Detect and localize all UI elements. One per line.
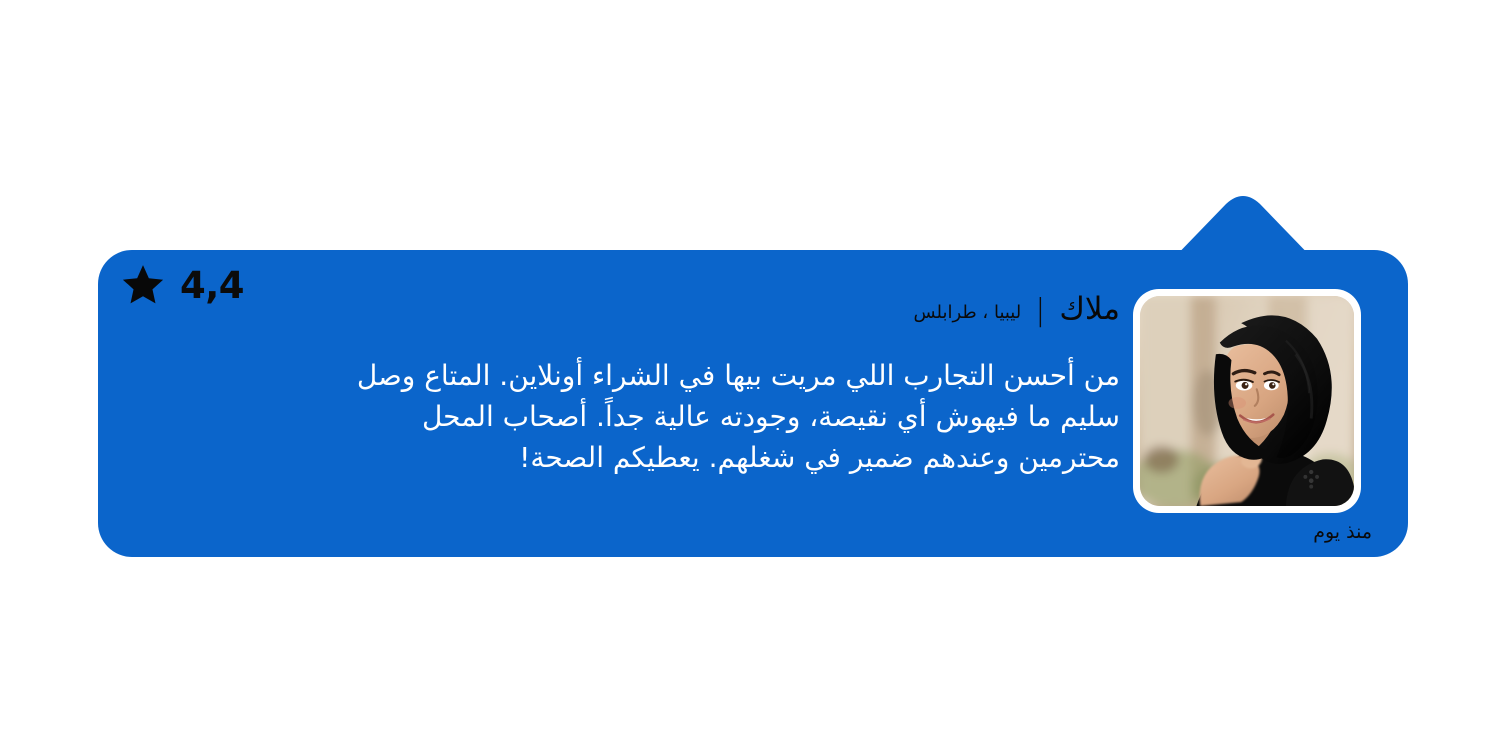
avatar — [1133, 289, 1361, 513]
review-timestamp: منذ يوم — [1313, 521, 1372, 543]
avatar-photo — [1140, 296, 1354, 506]
header-separator: | — [1035, 296, 1045, 326]
reviewer-header: ملاك | ليبيا ، طرابلس — [914, 292, 1120, 326]
avatar-portrait-illustration — [1140, 296, 1354, 506]
review-text: من أحسن التجارب اللي مريت بيها في الشراء… — [320, 355, 1120, 478]
rating-value: 4,4 — [180, 267, 244, 304]
testimonial-card: 4,4 — [98, 250, 1408, 557]
reviewer-location: ليبيا ، طرابلس — [914, 303, 1022, 323]
rating-block: 4,4 — [120, 262, 244, 308]
star-icon — [120, 262, 166, 308]
reviewer-name: ملاك — [1059, 292, 1120, 326]
